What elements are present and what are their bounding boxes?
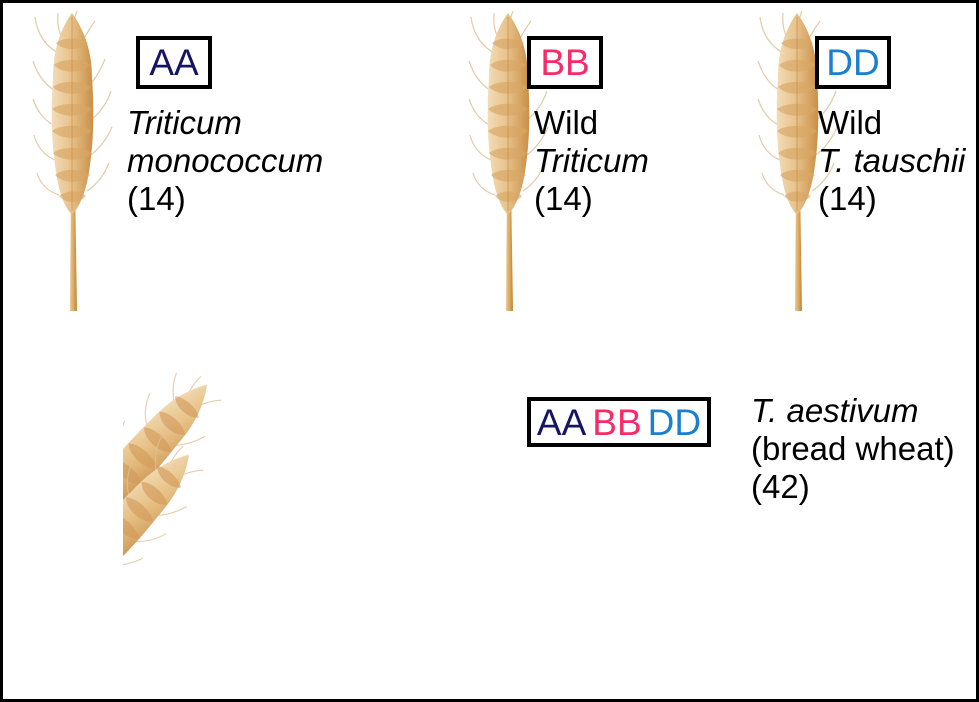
genome-code-bb: BB <box>540 44 589 81</box>
wheat-stalks-bread-wheat <box>123 373 463 698</box>
wheat-stalk-a-genome <box>15 7 130 319</box>
genome-box-dd: DD <box>815 36 891 89</box>
genome-code-dd-hybrid: DD <box>648 404 701 441</box>
species-label-d-line-1: Wild <box>818 104 965 142</box>
genome-box-aabbdd: AA BB DD <box>527 397 711 447</box>
species-label-b-line-1: Wild <box>534 104 649 142</box>
species-label-bread-wheat-line-1: T. aestivum <box>751 392 955 430</box>
species-label-d-line-2: T. tauschii <box>818 142 965 180</box>
species-label-a-line-1: Triticum <box>127 104 323 142</box>
figure-canvas: AA BB DD AA BB DD Triticum monococcum (1… <box>0 0 979 702</box>
genome-box-aa: AA <box>136 36 212 89</box>
species-label-d-chromosome-count: (14) <box>818 180 965 218</box>
species-label-d-genome: Wild T. tauschii (14) <box>818 104 965 218</box>
genome-code-bb-hybrid: BB <box>592 404 641 441</box>
species-label-bread-wheat-chromosome-count: (42) <box>751 468 955 506</box>
species-label-b-line-2: Triticum <box>534 142 649 180</box>
species-label-bread-wheat-line-2: (bread wheat) <box>751 430 955 468</box>
species-label-a-chromosome-count: (14) <box>127 180 323 218</box>
species-label-b-genome: Wild Triticum (14) <box>534 104 649 218</box>
species-label-a-line-2: monococcum <box>127 142 323 180</box>
genome-code-aa: AA <box>149 44 198 81</box>
species-label-bread-wheat: T. aestivum (bread wheat) (42) <box>751 392 955 506</box>
species-label-b-chromosome-count: (14) <box>534 180 649 218</box>
species-label-a-genome: Triticum monococcum (14) <box>127 104 323 218</box>
genome-box-bb: BB <box>527 36 603 89</box>
genome-code-aa-hybrid: AA <box>537 404 586 441</box>
genome-code-dd: DD <box>826 44 879 81</box>
